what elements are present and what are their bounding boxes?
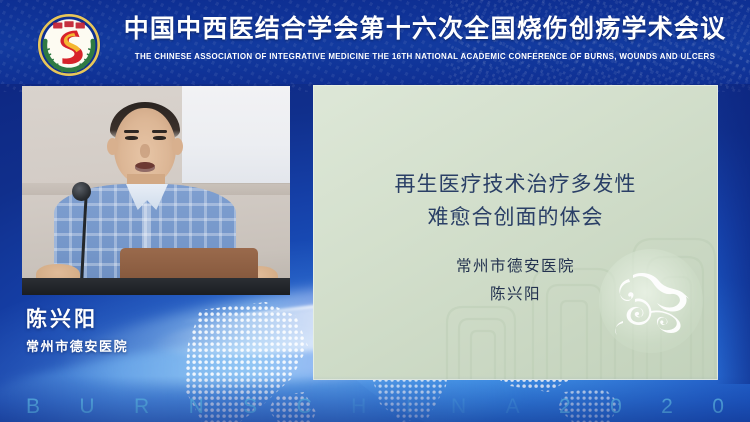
- speaker-ear-right: [172, 138, 183, 155]
- slide-byline: 常州市德安医院 陈兴阳: [314, 252, 717, 308]
- podium-surface: [22, 278, 290, 295]
- speaker-mouth: [135, 162, 155, 172]
- speaker-ear-left: [107, 138, 118, 155]
- speaker-brow-right: [152, 130, 167, 133]
- slide-affiliation: 常州市德安医院: [314, 252, 717, 280]
- slide-title-line1: 再生医疗技术治疗多发性: [314, 168, 717, 201]
- microphone-icon: [72, 182, 91, 201]
- speaker-eye-right: [153, 136, 166, 140]
- speaker-nameplate: 陈兴阳 常州市德安医院: [26, 306, 256, 355]
- speaker-brow-left: [124, 130, 139, 133]
- conference-broadcast-screen: 中国中西医结合学会第十六次全国烧伤创疡学术会议 THE CHINESE ASSO…: [0, 0, 750, 422]
- page-subtitle-en: THE CHINESE ASSOCIATION OF INTEGRATIVE M…: [119, 52, 730, 61]
- page-title: 中国中西医结合学会第十六次全国烧伤创疡学术会议: [110, 13, 740, 45]
- speaker-video-feed[interactable]: [22, 86, 290, 295]
- association-emblem-icon: [36, 12, 102, 78]
- slide-presenter: 陈兴阳: [314, 280, 717, 308]
- speaker-eye-left: [125, 136, 138, 140]
- slide-title-line2: 难愈合创面的体会: [314, 201, 717, 234]
- slide-title: 再生医疗技术治疗多发性 难愈合创面的体会: [314, 168, 717, 234]
- header-title-block: 中国中西医结合学会第十六次全国烧伤创疡学术会议 THE CHINESE ASSO…: [110, 13, 740, 61]
- speaker-nose: [140, 144, 150, 158]
- video-projection-screen: [182, 86, 290, 184]
- presentation-slide[interactable]: 再生医疗技术治疗多发性 难愈合创面的体会 常州市德安医院 陈兴阳: [313, 85, 718, 380]
- speaker-organization: 常州市德安医院: [26, 336, 256, 355]
- speaker-name: 陈兴阳: [26, 306, 256, 332]
